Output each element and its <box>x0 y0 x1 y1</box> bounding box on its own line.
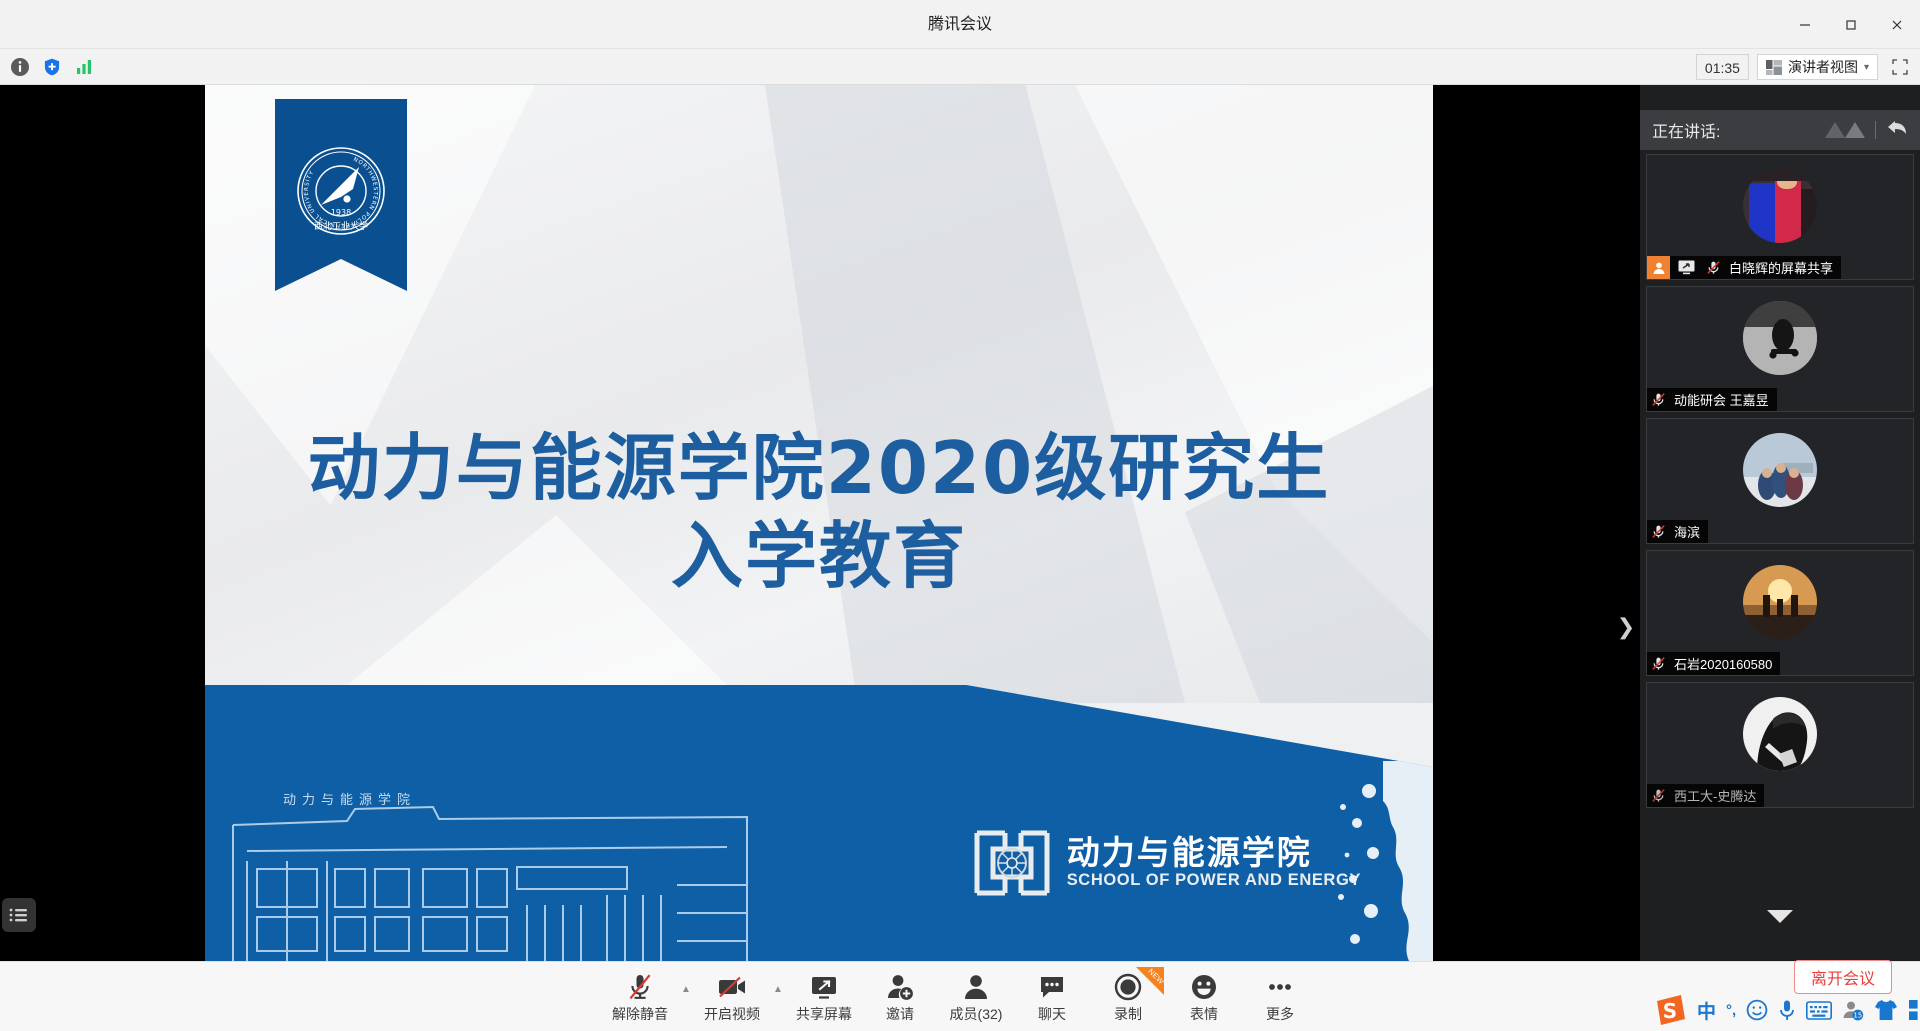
fullscreen-icon[interactable] <box>1886 54 1914 80</box>
participant-name: 动能研会 王嘉昱 <box>1674 390 1769 409</box>
ime-toolbar[interactable]: S 中 °, 15 <box>1655 989 1920 1031</box>
chevron-down-icon: ▾ <box>1864 62 1869 73</box>
slide-upper-background: 1938 NORTHWESTERN POLYTECHNICAL UNIVERSI… <box>205 85 1433 703</box>
start-video-label: 开启视频 <box>704 1004 760 1024</box>
participant-tile[interactable]: 动能研会 王嘉昱 <box>1646 286 1914 412</box>
avatar <box>1743 169 1817 243</box>
scroll-down-icon[interactable] <box>1640 903 1920 929</box>
participant-nameplate: 石岩2020160580 <box>1647 652 1780 675</box>
record-button[interactable]: NEW 录制 <box>1090 965 1166 1029</box>
top-toolbar-right: 01:35 演讲者视图 ▾ <box>1696 49 1914 85</box>
school-logo: 动力与能源学院 SCHOOL OF POWER AND ENERGY <box>971 827 1361 899</box>
minimize-icon[interactable] <box>1782 0 1828 49</box>
avatar <box>1743 697 1817 771</box>
voice-input-icon[interactable] <box>1778 999 1796 1021</box>
svg-text:15: 15 <box>1854 1011 1863 1019</box>
chat-button[interactable]: 聊天 <box>1014 965 1090 1029</box>
participant-name: 白晓辉的屏幕共享 <box>1729 258 1833 277</box>
soft-keyboard-icon[interactable] <box>1806 1001 1832 1020</box>
emoji-icon <box>1190 971 1218 1001</box>
window-buttons <box>1782 0 1920 49</box>
network-signal-icon[interactable] <box>72 55 96 79</box>
slide-title-line-1: 动力与能源学院2020级研究生 <box>205 425 1433 513</box>
emoji-label: 表情 <box>1190 1004 1218 1024</box>
view-mode-label: 演讲者视图 <box>1788 57 1858 77</box>
invite-user-icon <box>886 971 914 1001</box>
window-titlebar: 腾讯会议 <box>0 0 1920 49</box>
apps-grid-icon[interactable] <box>1908 999 1920 1021</box>
meeting-top-toolbar: 01:35 演讲者视图 ▾ <box>0 49 1920 85</box>
svg-text:S: S <box>1663 999 1677 1023</box>
meeting-logo-icon <box>1823 120 1867 140</box>
school-logo-en: SCHOOL OF POWER AND ENERGY <box>1067 871 1361 890</box>
unmute-button[interactable]: 解除静音 <box>602 965 678 1029</box>
chinese-mode-icon[interactable]: 中 <box>1697 997 1716 1024</box>
record-label: 录制 <box>1114 1004 1142 1024</box>
info-icon[interactable] <box>8 55 32 79</box>
share-screen-icon <box>809 971 839 1001</box>
slide-title: 动力与能源学院2020级研究生 入学教育 <box>205 425 1433 601</box>
participant-nameplate: 动能研会 王嘉昱 <box>1647 388 1777 411</box>
participants-button[interactable]: 成员(32) <box>938 965 1014 1029</box>
audio-options-chevron-icon[interactable]: ▲ <box>678 965 694 1029</box>
unmute-label: 解除静音 <box>612 1004 668 1024</box>
meeting-bottom-toolbar: 解除静音 ▲ 开启视频 ▲ 共享屏幕 邀请 <box>0 961 1920 1031</box>
host-badge-icon <box>1647 256 1670 279</box>
share-screen-label: 共享屏幕 <box>796 1004 852 1024</box>
participant-tile[interactable]: 石岩2020160580 <box>1646 550 1914 676</box>
chat-label: 聊天 <box>1038 1004 1066 1024</box>
chat-icon <box>1038 971 1066 1001</box>
participant-name: 海滨 <box>1674 522 1700 541</box>
leave-meeting-label: 离开会议 <box>1811 965 1875 989</box>
school-emblem-icon <box>971 827 1053 899</box>
emoji-icon[interactable] <box>1746 999 1768 1021</box>
participant-tile[interactable]: 海滨 <box>1646 418 1914 544</box>
top-toolbar-left-icons <box>8 49 96 85</box>
punctuation-icon[interactable]: °, <box>1726 1002 1736 1019</box>
mic-muted-icon <box>1647 388 1669 411</box>
user-badge-icon[interactable]: 15 <box>1842 999 1864 1021</box>
view-mode-selector[interactable]: 演讲者视图 ▾ <box>1757 54 1878 80</box>
participant-tile[interactable]: 白晓辉的屏幕共享 <box>1646 154 1914 280</box>
mic-muted-icon <box>1647 784 1669 807</box>
video-options-chevron-icon[interactable]: ▲ <box>770 965 786 1029</box>
panel-collapse-chevron-right-icon[interactable]: ❯ <box>1615 612 1637 642</box>
speaker-view-icon <box>1766 60 1782 75</box>
emoji-button[interactable]: 表情 <box>1166 965 1242 1029</box>
mic-muted-icon <box>1647 520 1669 543</box>
participants-panel: 正在讲话: <box>1640 85 1920 961</box>
invite-button[interactable]: 邀请 <box>862 965 938 1029</box>
more-label: 更多 <box>1266 1004 1294 1024</box>
invite-label: 邀请 <box>886 1004 914 1024</box>
avatar <box>1743 433 1817 507</box>
svg-text:1938: 1938 <box>331 208 351 217</box>
svg-text:西北工业大学: 西北工业大学 <box>314 220 368 232</box>
school-logo-cn: 动力与能源学院 <box>1067 836 1361 871</box>
blueprint-building-illustration: 动力与能源学院 <box>227 765 887 961</box>
participant-name: 石岩2020160580 <box>1674 654 1772 673</box>
blueprint-label: 动力与能源学院 <box>283 789 416 808</box>
shared-screen-stage: 1938 NORTHWESTERN POLYTECHNICAL UNIVERSI… <box>0 85 1640 961</box>
participants-icon <box>962 971 990 1001</box>
participant-tile[interactable]: 西工大-史腾达 <box>1646 682 1914 808</box>
university-seal-icon: 1938 NORTHWESTERN POLYTECHNICAL UNIVERSI… <box>295 145 387 242</box>
back-arrow-icon[interactable] <box>1886 119 1908 142</box>
mic-muted-icon <box>627 971 653 1001</box>
maximize-icon[interactable] <box>1828 0 1874 49</box>
meeting-controls: 解除静音 ▲ 开启视频 ▲ 共享屏幕 邀请 <box>602 962 1318 1031</box>
shield-icon[interactable] <box>40 55 64 79</box>
participant-nameplate: 海滨 <box>1647 520 1708 543</box>
share-screen-button[interactable]: 共享屏幕 <box>786 965 862 1029</box>
screen-share-icon <box>1675 256 1697 279</box>
presentation-list-icon[interactable] <box>2 898 36 932</box>
tencent-meeting-window: 腾讯会议 01:35 <box>0 0 1920 1031</box>
video-off-icon <box>717 971 747 1001</box>
school-logo-text: 动力与能源学院 SCHOOL OF POWER AND ENERGY <box>1067 836 1361 890</box>
more-icon <box>1266 971 1294 1001</box>
header-divider <box>1875 121 1876 139</box>
meeting-timer: 01:35 <box>1696 54 1749 80</box>
more-button[interactable]: 更多 <box>1242 965 1318 1029</box>
university-logo-ribbon: 1938 NORTHWESTERN POLYTECHNICAL UNIVERSI… <box>275 99 407 259</box>
avatar <box>1743 301 1817 375</box>
window-title: 腾讯会议 <box>0 0 1920 49</box>
sogou-logo-icon[interactable]: S <box>1655 995 1687 1025</box>
participant-nameplate: 西工大-史腾达 <box>1647 784 1764 807</box>
speaking-now-label: 正在讲话: <box>1652 118 1823 142</box>
slide-title-line-2: 入学教育 <box>205 513 1433 601</box>
mic-muted-icon <box>1702 256 1724 279</box>
start-video-button[interactable]: 开启视频 <box>694 965 770 1029</box>
presentation-slide: 1938 NORTHWESTERN POLYTECHNICAL UNIVERSI… <box>205 85 1433 961</box>
participant-tiles[interactable]: 白晓辉的屏幕共享 动能研会 王嘉昱 <box>1640 150 1920 898</box>
panel-header: 正在讲话: <box>1640 110 1920 150</box>
participant-nameplate: 白晓辉的屏幕共享 <box>1647 256 1841 279</box>
close-icon[interactable] <box>1874 0 1920 49</box>
slide-lower-banner: 动力与能源学院 <box>205 685 1433 961</box>
new-badge: NEW <box>1136 967 1164 995</box>
participant-name: 西工大-史腾达 <box>1674 786 1756 805</box>
skin-icon[interactable] <box>1874 999 1898 1021</box>
avatar <box>1743 565 1817 639</box>
participants-label: 成员(32) <box>950 1004 1003 1024</box>
mic-muted-icon <box>1647 652 1669 675</box>
